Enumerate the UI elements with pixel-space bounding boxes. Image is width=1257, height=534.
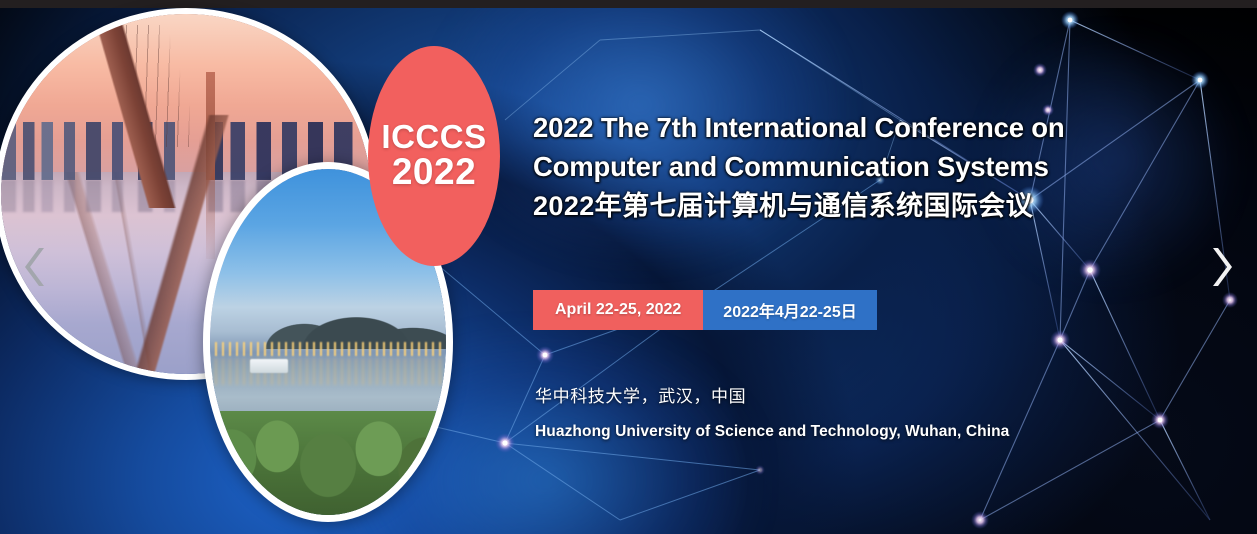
conference-logo: ICCCS 2022 — [368, 46, 500, 266]
date-badge-chinese: 2022年4月22-25日 — [703, 290, 876, 330]
logo-year: 2022 — [392, 153, 476, 192]
logo-acronym: ICCCS — [381, 120, 486, 154]
carousel-next-button[interactable] — [1187, 0, 1257, 534]
chevron-right-icon — [1209, 245, 1235, 289]
date-badge-english: April 22-25, 2022 — [533, 290, 703, 330]
conference-venue: 华中科技大学，武汉，中国 Huazhong University of Scie… — [535, 382, 1009, 441]
venue-english: Huazhong University of Science and Techn… — [535, 423, 1009, 441]
title-line-chinese: 2022年第七届计算机与通信系统国际会议 — [533, 186, 1053, 227]
chevron-left-icon — [22, 245, 48, 289]
letterbox-bar-top — [0, 0, 1257, 8]
conference-banner-slide: ICCCS 2022 2022 The 7th International Co… — [0, 0, 1257, 534]
title-line-1: 2022 The 7th International Conference on — [533, 108, 1053, 147]
conference-title-block: 2022 The 7th International Conference on… — [533, 108, 1053, 227]
conference-dates: April 22-25, 2022 2022年4月22-25日 — [533, 290, 877, 330]
title-line-2: Computer and Communication Systems — [533, 147, 1053, 186]
carousel-prev-button[interactable] — [0, 0, 70, 534]
venue-chinese: 华中科技大学，武汉，中国 — [535, 382, 1009, 407]
